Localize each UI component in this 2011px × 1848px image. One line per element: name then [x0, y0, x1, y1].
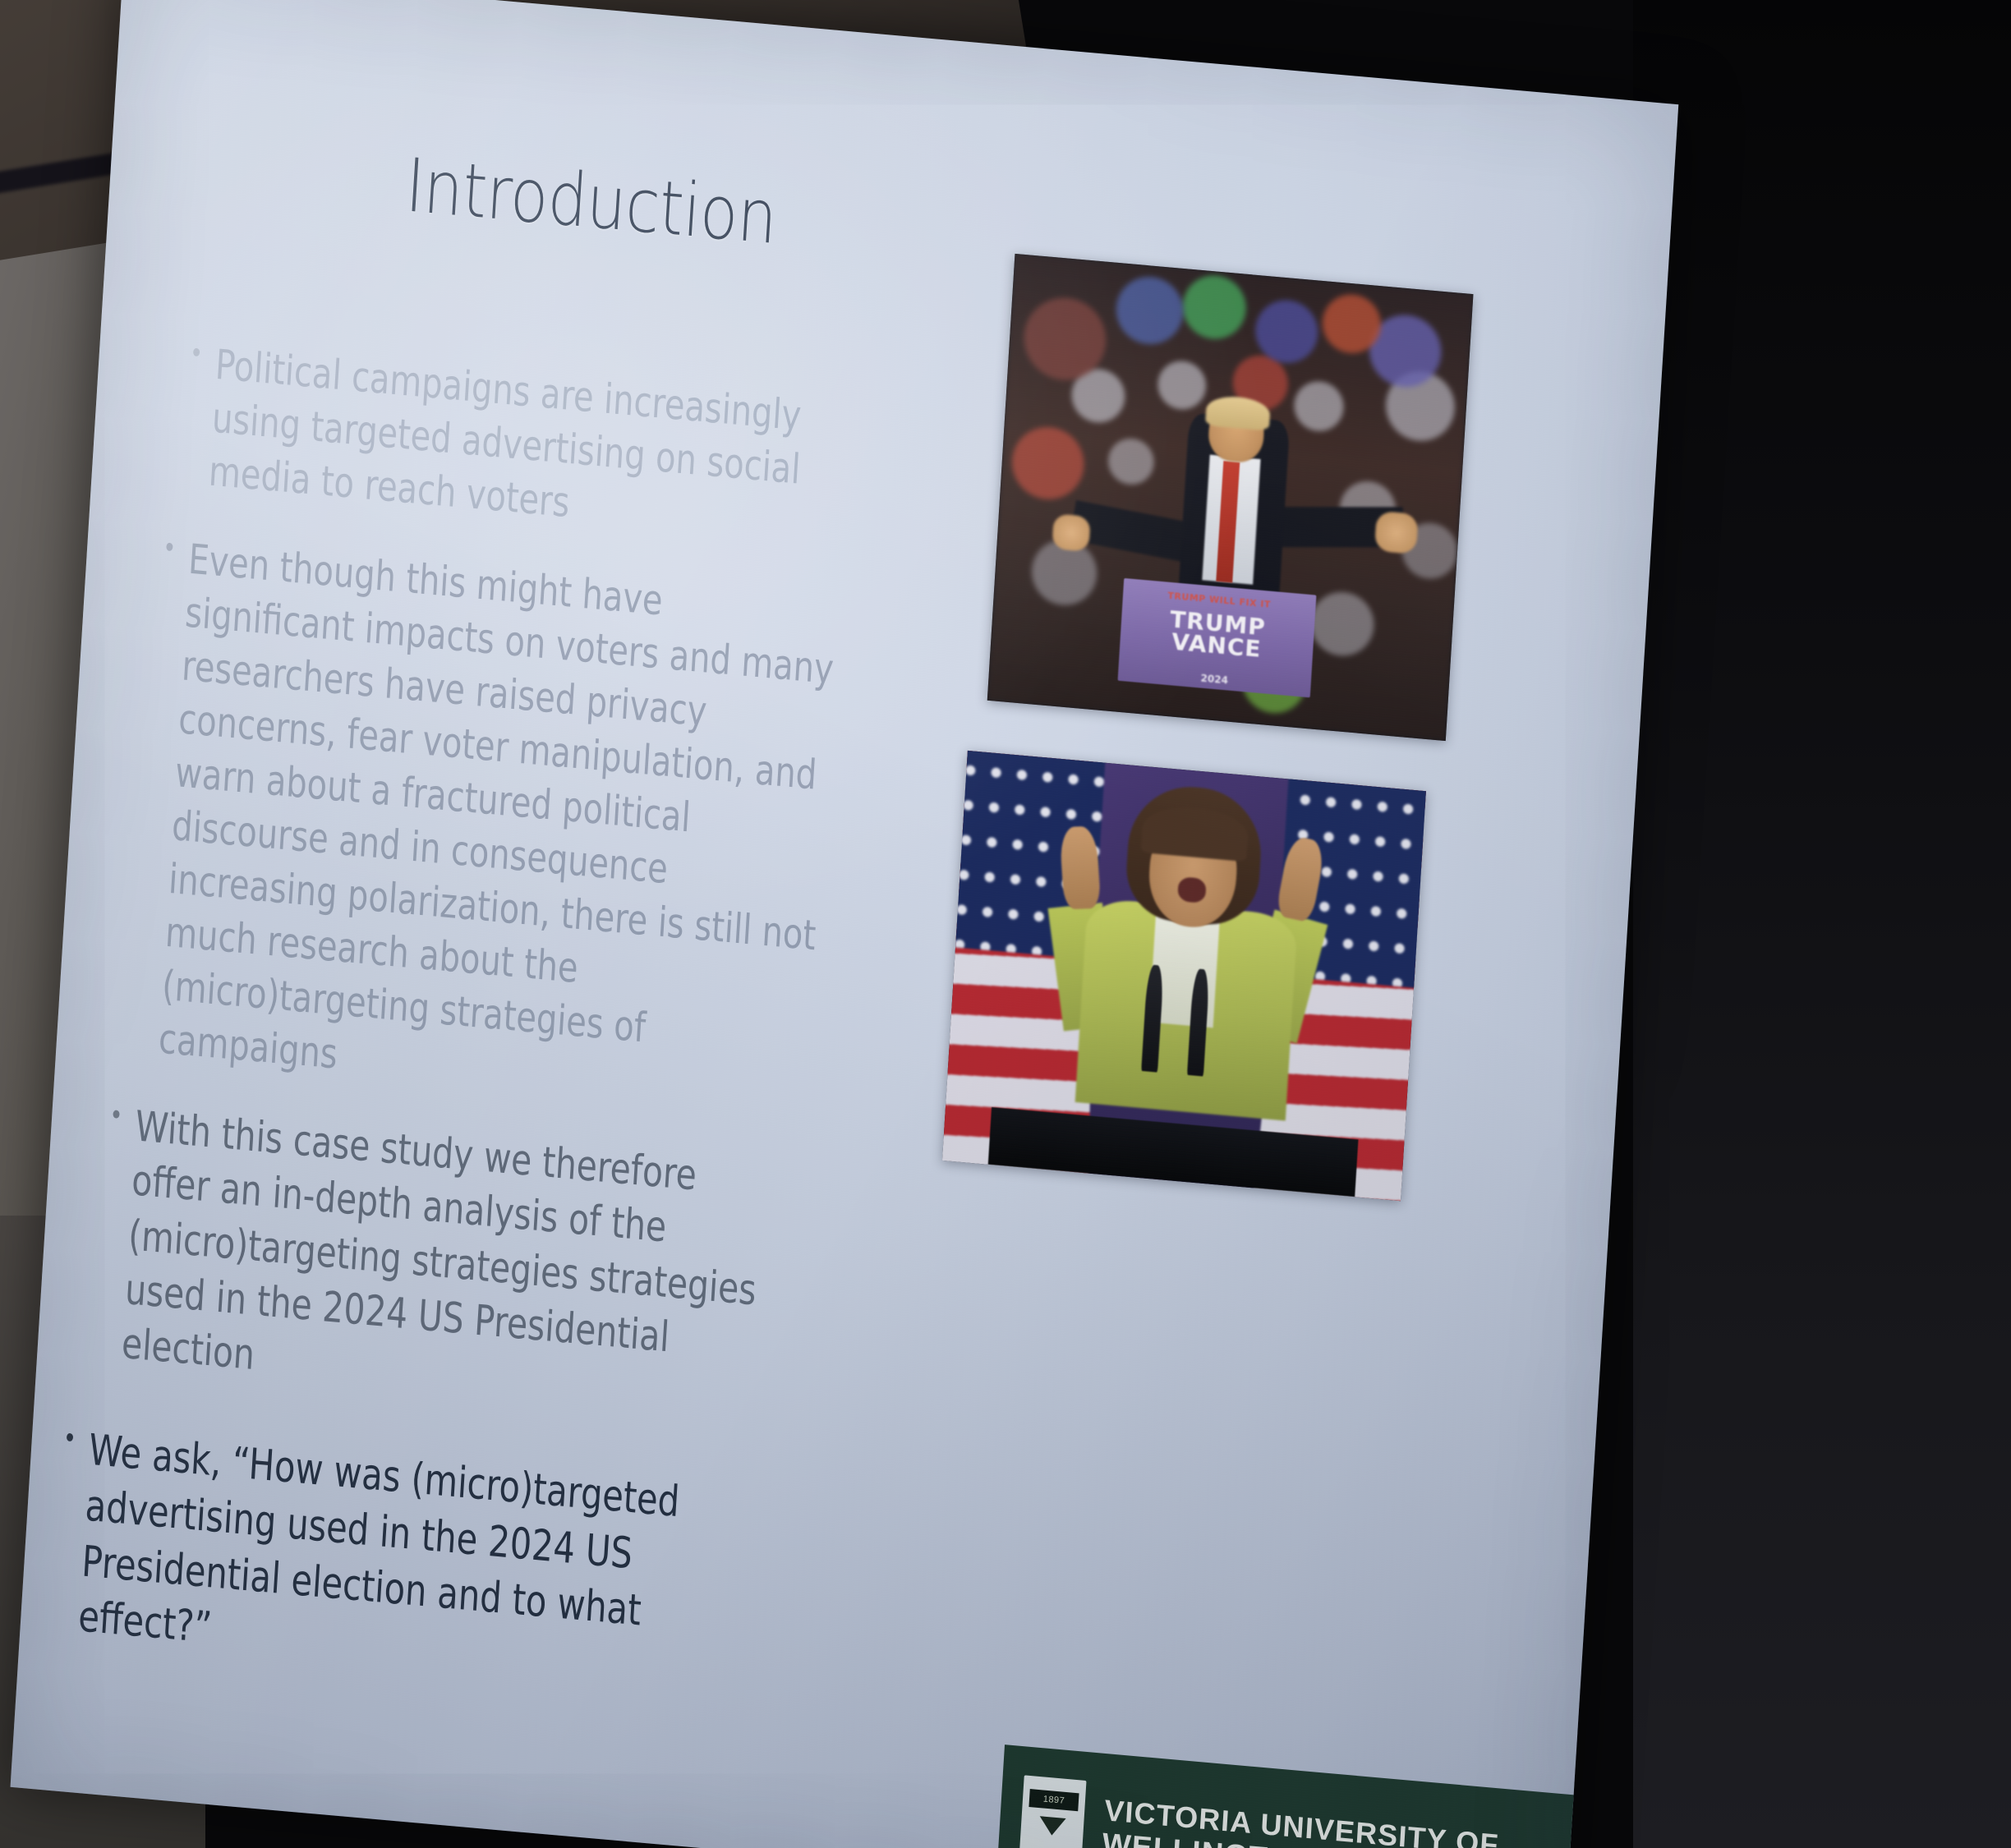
harris-podium-image-content	[942, 751, 1426, 1201]
bullet-text: We ask, “How was (micro)targeted adverti…	[76, 1423, 725, 1701]
bullet-marker-icon: •	[62, 1421, 78, 1457]
bullet-marker-icon: •	[108, 1098, 124, 1134]
list-item: • With this case study we therefore offe…	[94, 1098, 779, 1429]
screenshot-stage: Introduction • Political campaigns are i…	[0, 0, 2011, 1848]
list-item: • We ask, “How was (micro)targeted adver…	[50, 1421, 725, 1701]
list-item: • Even though this might have significan…	[131, 531, 838, 1123]
trump-rally-image: TRUMP WILL FIX IT TRUMP VANCE 2024	[987, 254, 1474, 741]
list-item: • Political campaigns are increasingly u…	[181, 336, 845, 554]
presentation-slide: Introduction • Political campaigns are i…	[11, 0, 1679, 1848]
crest-band-text: 1897	[1029, 1789, 1079, 1811]
harris-podium-image	[942, 751, 1426, 1201]
page-title: Introduction	[403, 142, 780, 261]
bullet-text: With this case study we therefore offer …	[120, 1100, 779, 1428]
bullet-marker-icon: •	[189, 336, 205, 372]
trump-rally-image-content: TRUMP WILL FIX IT TRUMP VANCE 2024	[987, 254, 1474, 741]
podium-sign: TRUMP WILL FIX IT TRUMP VANCE 2024	[1117, 577, 1316, 697]
left-hand	[1052, 513, 1090, 552]
university-name: VICTORIA UNIVERSITY OF WELLINGTON	[1102, 1794, 1500, 1848]
right-hand	[1374, 510, 1418, 554]
crest-triangle-icon	[1038, 1816, 1065, 1837]
crest-band: 1897	[1029, 1789, 1079, 1811]
bullet-marker-icon: •	[162, 531, 177, 567]
university-crest-icon: 1897	[1019, 1775, 1087, 1848]
university-logo: 1897 VICTORIA UNIVERSITY OF WELLINGTON	[996, 1745, 1578, 1848]
room-right-dark-wall	[1633, 0, 2011, 1848]
bullet-list: • Political campaigns are increasingly u…	[42, 330, 993, 1755]
projection-screen: Introduction • Political campaigns are i…	[11, 0, 1679, 1848]
bullet-text: Political campaigns are increasingly usi…	[207, 338, 845, 554]
bullet-text: Even though this might have significant …	[157, 533, 838, 1123]
podium-sign-main: TRUMP VANCE	[1120, 605, 1315, 665]
